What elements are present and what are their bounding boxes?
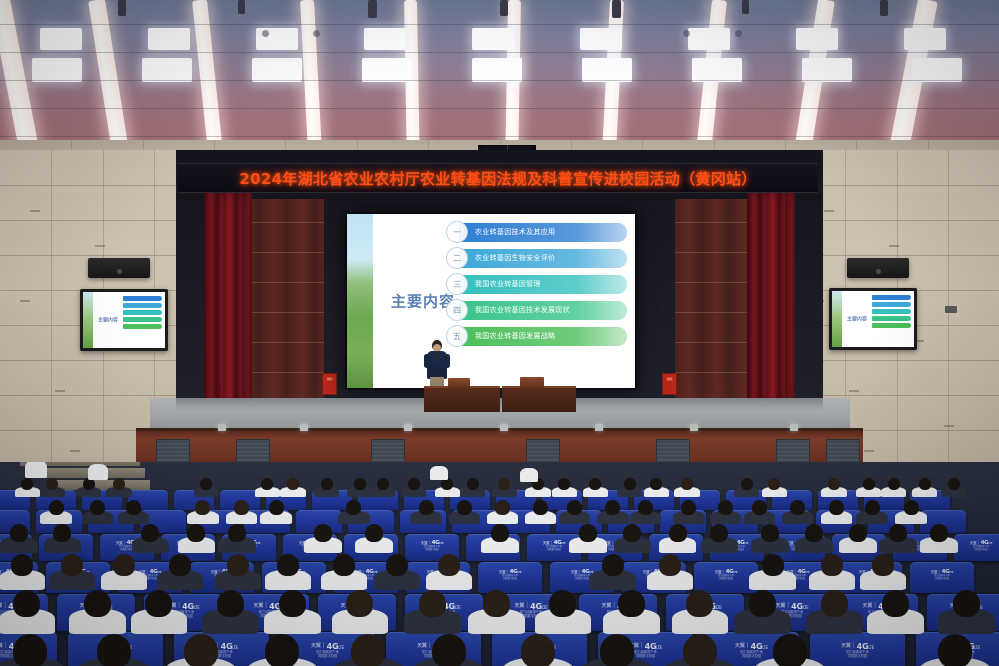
audience-member-head [261, 478, 273, 490]
audience-member-head [61, 554, 83, 576]
audience-member-head [97, 634, 131, 666]
left-wall-speaker [88, 258, 150, 278]
audience-member-head [351, 634, 385, 666]
audience-member-head [113, 554, 135, 576]
audience-member-head [521, 634, 555, 666]
audience-member-head [919, 478, 931, 490]
4g-label: 4GLTE [726, 569, 738, 575]
audience-member-head [49, 500, 64, 515]
ceiling-hanging-fixture [742, 0, 749, 14]
slide-list-item: 二农业转基因生物安全评价 [459, 248, 627, 268]
ceiling-sprinkler-dot [735, 30, 742, 37]
ceiling-panel-light [32, 58, 82, 82]
telecom-logo: 天翼 [116, 541, 123, 545]
ceiling-seam [0, 52, 999, 53]
stage-footlight [790, 424, 798, 431]
audience-member-head [11, 554, 33, 576]
left-fire-box-label: 消防 [323, 377, 336, 381]
audience-member-head [365, 524, 383, 542]
telecom-logo: 天翼 [0, 644, 3, 650]
wall-panel-notch [30, 210, 40, 212]
4g-label: 4GLTE [432, 540, 444, 546]
audience-member-head [953, 590, 980, 617]
ceiling-seam [0, 136, 999, 137]
right-monitor-body: 主要内容 [842, 291, 914, 347]
audience-member-head [53, 524, 71, 542]
audience-member-head [710, 524, 728, 542]
ceiling-panel-light [912, 58, 962, 82]
telecom-logo: 天翼 [417, 644, 427, 650]
audience-member-head [408, 478, 420, 490]
audience-member-head [659, 554, 681, 576]
telecom-logo: 天翼 [776, 604, 786, 610]
audience-member-head [498, 478, 510, 490]
audience-member-head [13, 590, 40, 617]
audience-member-head [549, 590, 576, 617]
slide-list-item: 三我国农业转基因管理 [459, 274, 627, 294]
ceiling-hanging-fixture [118, 0, 126, 16]
4g-label: 4GLTE [798, 569, 810, 575]
4g-label: 4GLTE [737, 540, 749, 546]
ceiling-hanging-fixture [880, 0, 888, 16]
wall-panel-line [51, 150, 52, 465]
audience-member-head [227, 554, 249, 576]
audience-member-head [90, 500, 105, 515]
ceiling-panel-light [142, 58, 192, 82]
telecom-logo: 天翼 [543, 541, 550, 545]
seat-branding: 天翼 | 4GLTE 助力阅客带千承 同筑数字校园 [478, 569, 542, 581]
telecom-logo: 天翼 [841, 644, 851, 650]
audience-member-head [169, 554, 191, 576]
audience-member-head [432, 634, 466, 666]
audience-member-head [483, 590, 510, 617]
audience-member-head [863, 478, 875, 490]
audience-member-head [279, 590, 306, 617]
monitor-item-bar [872, 323, 911, 328]
left-fire-box: 消防 [322, 373, 337, 395]
ceiling-hanging-fixture [612, 0, 621, 18]
ceiling-panel-light [472, 28, 514, 50]
audience-member-head [467, 478, 479, 490]
audience-member-head [948, 478, 960, 490]
seat-tagline-2: 同筑数字校园 [954, 549, 999, 552]
telecom-logo: 天翼 [421, 541, 428, 545]
seat-tagline-1: 助力阅客带千承 [954, 546, 999, 549]
slide-item-bar: 我国农业转基因发展战略 [459, 327, 627, 346]
wall-panel-notch [20, 300, 30, 302]
audience-member-head [681, 478, 693, 490]
ceiling-hanging-fixture [238, 0, 245, 14]
monitor-item-bar [872, 309, 911, 314]
projection-screen: 主要内容 一农业转基因技术及其应用二农业转基因生物安全评价三我国农业转基因管理四… [345, 212, 637, 390]
ceiling-seam [0, 24, 999, 25]
telecom-logo: 天翼 [515, 604, 525, 610]
right-fire-box: 消防 [662, 373, 677, 395]
monitor-item-bar [872, 295, 911, 300]
4g-label: 4GLTE [645, 642, 662, 651]
right-monitor-photo [832, 291, 842, 347]
wall-panel-notch [70, 450, 80, 452]
telecom-logo: 天翼 [863, 604, 873, 610]
audience-member-head [683, 634, 717, 666]
audience-member-head [491, 524, 509, 542]
slide-item-bar: 我国农业转基因管理 [459, 275, 627, 294]
audience-member-head [495, 500, 510, 515]
seat-tagline-1: 助力阅客带千承 [478, 575, 542, 578]
audience-member-head [377, 478, 389, 490]
audience-member-head [10, 524, 28, 542]
telecom-logo: 天翼 [715, 570, 722, 574]
audience-member-head [126, 500, 141, 515]
audience-member-head [829, 500, 844, 515]
audience-member-head [265, 634, 299, 666]
slide-item-number: 一 [446, 221, 468, 243]
ceiling-panel-light [692, 58, 742, 82]
audience-member-head [849, 524, 867, 542]
audience-member-head [821, 554, 843, 576]
ceiling-tube-light [192, 0, 223, 150]
seat-tagline-1: 助力阅客带千承 [694, 575, 758, 578]
monitor-item-bar [123, 310, 162, 315]
audience-seat: 天翼 | 4GLTE 助力阅客带千承 同筑数字校园 [954, 534, 999, 561]
ceiling-seam [0, 80, 999, 81]
seat-tagline-1: 助力阅客带千承 [405, 546, 459, 549]
left-stage-curtain [204, 185, 252, 413]
slide-item-number: 三 [446, 273, 468, 295]
led-banner: 2024年湖北省农业农村厅农业转基因法规及科普宣传进校园活动（黄冈站） [178, 163, 818, 193]
slide-item-bar: 我国农业转基因技术发展现状 [459, 301, 627, 320]
slide-field-photo [347, 214, 373, 388]
audience-member-head [419, 500, 434, 515]
right-wall-speaker [847, 258, 909, 278]
audience-member-head [195, 500, 210, 515]
audience-area: 天翼 | 4GLTE 助力阅客带千承 同筑数字校园 天翼 | 4GLTE 助力阅… [0, 462, 999, 666]
right-monitor-list [872, 295, 911, 328]
ceiling-panel-light [796, 28, 838, 50]
audience-member-head [828, 478, 840, 490]
ceiling-panel-light [364, 28, 406, 50]
4g-label: 4GLTE [554, 540, 566, 546]
audience-seat: 天翼 | 4GLTE 助力阅客带千承 同筑数字校园 [910, 562, 974, 593]
seat-tagline-2: 同筑数字校园 [694, 578, 758, 581]
stage-footlight [218, 424, 226, 431]
ceiling-panel-light [472, 58, 522, 82]
slide-item-bar: 农业转基因生物安全评价 [459, 249, 627, 268]
audience-member-head [346, 500, 361, 515]
audience-member-head [650, 478, 662, 490]
right-monitor-title: 主要内容 [847, 316, 867, 323]
back-row-person [88, 464, 108, 480]
ceiling-tube-light [300, 0, 322, 150]
ceiling-hanging-fixture [368, 0, 377, 18]
left-monitor-body: 主要内容 [93, 292, 165, 348]
audience-member-head [558, 478, 570, 490]
audience-member-head [938, 634, 972, 666]
4g-label: 4GLTE [510, 569, 522, 575]
audience-member-head [346, 590, 373, 617]
audience-member-head [321, 478, 333, 490]
ceiling-panel-light [802, 58, 852, 82]
slide-item-bar: 农业转基因技术及其应用 [459, 223, 627, 242]
ceiling-panel-light [40, 28, 82, 50]
audience-member-head [277, 554, 299, 576]
led-banner-text: 2024年湖北省农业农村厅农业转基因法规及科普宣传进校园活动（黄冈站） [239, 168, 756, 189]
audience-member-head [184, 634, 218, 666]
auditorium-scene: 消防 消防 2024年湖北省农业农村厅农业转基因法规及科普宣传进校园活动（黄冈站… [0, 0, 999, 666]
audience-member-head [567, 500, 582, 515]
presenter-left-arm [424, 354, 429, 368]
wall-panel-notch [889, 245, 899, 247]
audience-member-head [888, 478, 900, 490]
audience-member-head [419, 590, 446, 617]
audience-member-head [749, 590, 776, 617]
audience-member-head [457, 500, 472, 515]
right-fire-box-label: 消防 [663, 377, 676, 381]
ceiling-panel-light [688, 28, 730, 50]
audience-member-head [113, 478, 125, 490]
monitor-item-bar [872, 316, 911, 321]
slide-list-item: 五我国农业转基因发展战略 [459, 326, 627, 346]
wall-panel-notch [864, 450, 874, 452]
audience-member-head [46, 478, 58, 490]
audience-member-head [579, 524, 597, 542]
audience-member-head [872, 554, 894, 576]
audience-member-head [889, 524, 907, 542]
seat-tagline-1: 助力阅客带千承 [910, 575, 974, 578]
slide-item-number: 二 [446, 247, 468, 269]
seat-tagline-2: 同筑数字校园 [810, 655, 905, 659]
right-wall-monitor: 主要内容 [829, 288, 917, 350]
stage-footlight [300, 424, 308, 431]
audience-member-head [228, 524, 246, 542]
seat-branding: 天翼 | 4GLTE 助力阅客带千承 同筑数字校园 [810, 642, 905, 659]
monitor-item-bar [123, 324, 162, 329]
audience-member-head [638, 500, 653, 515]
audience-member-head [618, 590, 645, 617]
audience-member-head [882, 590, 909, 617]
monitor-item-bar [872, 302, 911, 307]
telecom-logo: 天翼 [254, 604, 264, 610]
audience-seat: 天翼 | 4GLTE 助力阅客带千承 同筑数字校园 [478, 562, 542, 593]
seat-branding: 天翼 | 4GLTE 助力阅客带千承 同筑数字校园 [954, 540, 999, 552]
audience-member-head [200, 478, 212, 490]
slide-content: 主要内容 一农业转基因技术及其应用二农业转基因生物安全评价三我国农业转基因管理四… [347, 214, 635, 388]
4g-label: 4GLTE [751, 642, 768, 651]
audience-member-head [84, 590, 111, 617]
ceiling [0, 0, 999, 152]
audience-member-head [821, 590, 848, 617]
seat-tagline-2: 同筑数字校园 [910, 578, 974, 581]
audience-member-head [669, 524, 687, 542]
ceiling-panel-light [580, 28, 622, 50]
audience-member-head [904, 500, 919, 515]
left-monitor-list [123, 296, 162, 329]
audience-member-head [761, 524, 779, 542]
audience-member-head [805, 524, 823, 542]
audience-member-head [533, 500, 548, 515]
right-monitor-screen: 主要内容 [832, 291, 914, 347]
ceiling-panel-light [148, 28, 190, 50]
audience-member-head [13, 634, 47, 666]
audience-member-head [333, 554, 355, 576]
back-row-person [25, 462, 47, 478]
back-row-person [520, 468, 538, 482]
audience-member-head [438, 554, 460, 576]
audience-member-head [623, 524, 641, 542]
4g-label: 4GLTE [981, 540, 993, 546]
audience-member-head [681, 500, 696, 515]
wall-panel-notch [944, 425, 954, 427]
audience-member-head [865, 500, 880, 515]
stage-table-right [502, 386, 576, 412]
audience-member-head [718, 500, 733, 515]
audience-member-head [187, 524, 205, 542]
4g-label: 4GLTE [182, 602, 199, 611]
telecom-logo: 天翼 [735, 644, 745, 650]
audience-member-head [314, 524, 332, 542]
audience-member-head [217, 590, 244, 617]
monitor-item-bar [123, 317, 162, 322]
stage-footlight [595, 424, 603, 431]
ceiling-sprinkler-dot [313, 30, 320, 37]
left-monitor-screen: 主要内容 [83, 292, 165, 348]
ceiling-panel-light [252, 58, 302, 82]
audience-member-head [602, 554, 624, 576]
stage-footlight [500, 424, 508, 431]
seat-branding: 天翼 | 4GLTE 助力阅客带千承 同筑数字校园 [694, 569, 758, 581]
wall-panel-notch [824, 210, 834, 212]
monitor-item-bar [123, 303, 162, 308]
telecom-logo: 天翼 [602, 604, 612, 610]
wall-panel-notch [55, 390, 65, 392]
seat-branding: 天翼 | 4GLTE 助力阅客带千承 同筑数字校园 [910, 569, 974, 581]
stage-footlight [404, 424, 412, 431]
audience-member-head [234, 500, 249, 515]
audience-seat: 天翼 | 4GLTE 助力阅客带千承 同筑数字校园 [694, 562, 758, 593]
right-stage-curtain [747, 185, 795, 413]
ceiling-sprinkler-dot [683, 30, 690, 37]
podium-box-left [448, 378, 470, 388]
telecom-logo: 天翼 [970, 541, 977, 545]
audience-member-head [752, 500, 767, 515]
ceiling-seam [0, 108, 999, 109]
presenter-right-arm [445, 354, 450, 368]
audience-member-head [605, 500, 620, 515]
audience-member-head [624, 478, 636, 490]
ceiling-panel-light [362, 58, 412, 82]
audience-member-head [269, 500, 284, 515]
telecom-logo: 天翼 [311, 644, 321, 650]
audience-seat: 天翼 | 4GLTE 助力阅客带千承 同筑数字校园 [810, 632, 905, 666]
audience-member-head [600, 634, 634, 666]
audience-member-head [141, 524, 159, 542]
telecom-logo: 天翼 [571, 570, 578, 574]
4g-label: 4GLTE [942, 569, 954, 575]
wall-panel-notch [849, 390, 859, 392]
seat-branding: 天翼 | 4GLTE 助力阅客带千承 同筑数字校园 [405, 540, 459, 552]
4g-label: 4GLTE [221, 642, 238, 651]
seat-tagline-1: 助力阅客带千承 [810, 651, 905, 655]
slide-list-item: 一农业转基因技术及其应用 [459, 222, 627, 242]
audience-member-head [762, 554, 784, 576]
audience-member-head [386, 554, 408, 576]
ceiling-tube-light [88, 0, 128, 149]
ceiling-sprinkler-dot [262, 30, 269, 37]
podium-box-right [520, 377, 544, 388]
audience-member-head [773, 634, 807, 666]
audience-member-head [145, 590, 172, 617]
monitor-item-bar [123, 296, 162, 301]
4g-label: 4GLTE [327, 642, 344, 651]
wall-panel-notch [95, 245, 105, 247]
4g-label: 4GLTE [857, 642, 874, 651]
ceiling-panel-light [582, 58, 632, 82]
audience-member-head [354, 478, 366, 490]
slide-list-item: 四我国农业转基因技术发展现状 [459, 300, 627, 320]
4g-label: 4GLTE [791, 602, 808, 611]
left-monitor-title: 主要内容 [98, 317, 118, 324]
seat-tagline-2: 同筑数字校园 [478, 578, 542, 581]
ceiling-panel-light [904, 28, 946, 50]
ceiling-hanging-fixture [500, 0, 508, 16]
microphone-icon [435, 352, 438, 359]
seat-tagline-2: 同筑数字校园 [405, 549, 459, 552]
slide-item-number: 四 [446, 299, 468, 321]
audience-member-head [790, 500, 805, 515]
telecom-logo: 天翼 [0, 604, 2, 610]
audience-member-head [768, 478, 780, 490]
telecom-logo: 天翼 [499, 570, 506, 574]
back-row-person [430, 466, 448, 480]
audience-member-head [930, 524, 948, 542]
stage-table-left [424, 386, 500, 412]
slide-list: 一农业转基因技术及其应用二农业转基因生物安全评价三我国农业转基因管理四我国农业转… [459, 222, 627, 346]
left-wall-monitor: 主要内容 [80, 289, 168, 351]
audience-member-head [686, 590, 713, 617]
right-wall-camera [945, 306, 957, 313]
audience-member-head [287, 478, 299, 490]
stage-footlight [690, 424, 698, 431]
audience-member-head [21, 478, 33, 490]
slide-item-number: 五 [446, 325, 468, 347]
audience-member-head [589, 478, 601, 490]
audience-member-head [741, 478, 753, 490]
left-monitor-photo [83, 292, 93, 348]
slide-body: 主要内容 一农业转基因技术及其应用二农业转基因生物安全评价三我国农业转基因管理四… [373, 214, 635, 388]
telecom-logo: 天翼 [931, 570, 938, 574]
